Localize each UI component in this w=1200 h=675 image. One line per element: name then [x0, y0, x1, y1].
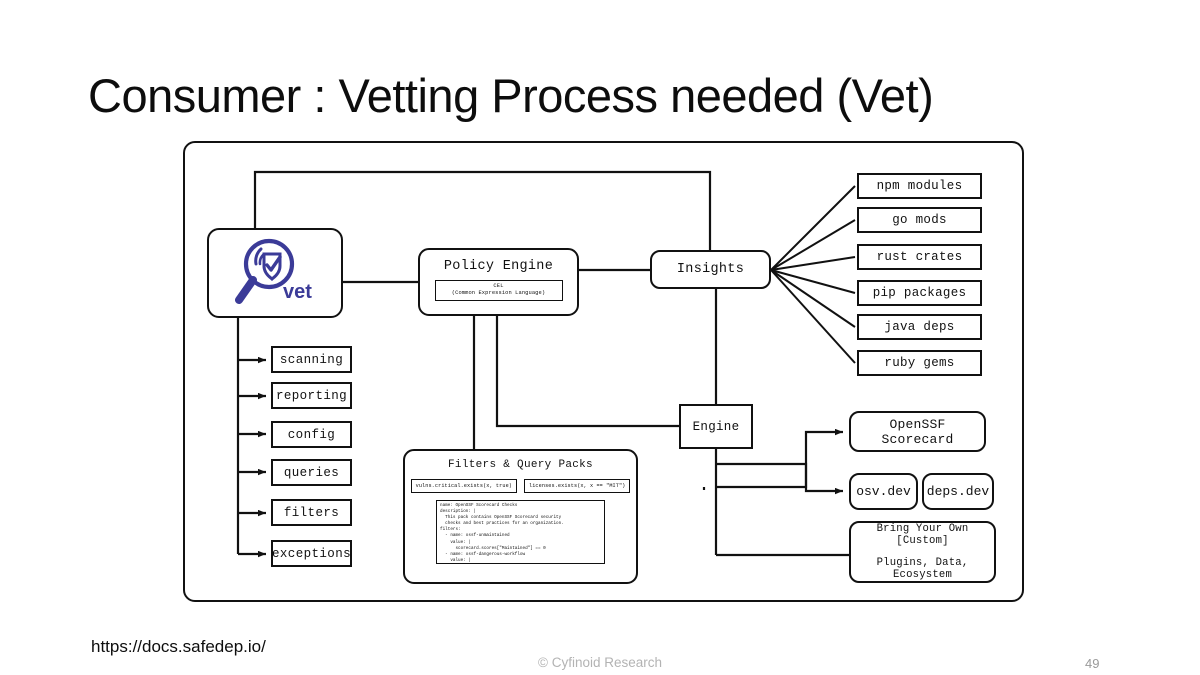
node-osv-dev[interactable]: osv.dev: [849, 473, 918, 510]
node-go-mods[interactable]: go mods: [857, 207, 982, 233]
cel-subtitle: (Common Expression Language): [438, 290, 560, 297]
filters-panel-title: Filters & Query Packs: [405, 459, 636, 471]
cel-box: CEL (Common Expression Language): [435, 280, 563, 301]
yaml-snippet-box: name: OpenSSF Scorecard Checks descripti…: [436, 500, 605, 564]
node-policy-engine[interactable]: Policy Engine CEL (Common Expression Lan…: [418, 248, 579, 316]
footer-url[interactable]: https://docs.safedep.io/: [91, 637, 266, 657]
node-openssf-scorecard[interactable]: OpenSSF Scorecard: [849, 411, 986, 452]
yaml-code: name: OpenSSF Scorecard Checks descripti…: [440, 503, 601, 564]
node-label: rust crates: [877, 250, 963, 264]
vet-logo-card: vet: [207, 228, 343, 318]
node-rust-crates[interactable]: rust crates: [857, 244, 982, 270]
node-ruby-gems[interactable]: ruby gems: [857, 350, 982, 376]
node-java-deps[interactable]: java deps: [857, 314, 982, 340]
node-bring-your-own[interactable]: Bring Your Own [Custom] Plugins, Data, E…: [849, 521, 996, 583]
node-label: npm modules: [877, 179, 963, 193]
node-engine[interactable]: Engine: [679, 404, 753, 449]
node-label: pip packages: [873, 286, 967, 300]
node-label: scanning: [280, 353, 343, 367]
panel-filters-query-packs: Filters & Query Packs vulns.critical.exi…: [403, 449, 638, 584]
byo-line-1: Bring Your Own [Custom]: [851, 523, 994, 547]
node-queries[interactable]: queries: [271, 459, 352, 486]
node-label: reporting: [276, 389, 347, 403]
node-label: Engine: [693, 420, 740, 434]
node-pip-packages[interactable]: pip packages: [857, 280, 982, 306]
node-label: config: [288, 428, 335, 442]
policy-engine-title: Policy Engine: [444, 259, 553, 274]
node-reporting[interactable]: reporting: [271, 382, 352, 409]
node-label: osv.dev: [856, 484, 911, 499]
node-label: go mods: [892, 213, 947, 227]
node-label: ruby gems: [884, 356, 954, 370]
node-npm-modules[interactable]: npm modules: [857, 173, 982, 199]
node-label: queries: [284, 466, 339, 480]
code-chip-row: vulns.critical.exists(x, true) licenses.…: [405, 479, 636, 493]
vet-logo: vet: [209, 230, 341, 316]
node-scanning[interactable]: scanning: [271, 346, 352, 373]
watermark: © Cyfinoid Research: [0, 655, 1200, 670]
node-config[interactable]: config: [271, 421, 352, 448]
node-label: filters: [284, 506, 339, 520]
node-insights[interactable]: Insights: [650, 250, 771, 289]
node-deps-dev[interactable]: deps.dev: [922, 473, 994, 510]
code-chip-licenses: licenses.exists(x, x == "MIT"): [524, 479, 630, 493]
node-exceptions[interactable]: exceptions: [271, 540, 352, 567]
svg-text:vet: vet: [283, 281, 312, 303]
node-label: Insights: [677, 262, 744, 277]
magnifier-check-icon: vet: [223, 236, 327, 310]
page-number: 49: [1085, 656, 1099, 671]
node-filters[interactable]: filters: [271, 499, 352, 526]
node-label: OpenSSF Scorecard: [851, 417, 984, 447]
node-label: deps.dev: [927, 484, 989, 499]
code-chip-vulns: vulns.critical.exists(x, true): [411, 479, 517, 493]
page-title: Consumer : Vetting Process needed (Vet): [88, 68, 933, 123]
node-label: exceptions: [272, 547, 351, 561]
cel-title: CEL: [438, 283, 560, 290]
byo-line-2: Plugins, Data, Ecosystem: [851, 557, 994, 581]
node-label: java deps: [884, 320, 954, 334]
